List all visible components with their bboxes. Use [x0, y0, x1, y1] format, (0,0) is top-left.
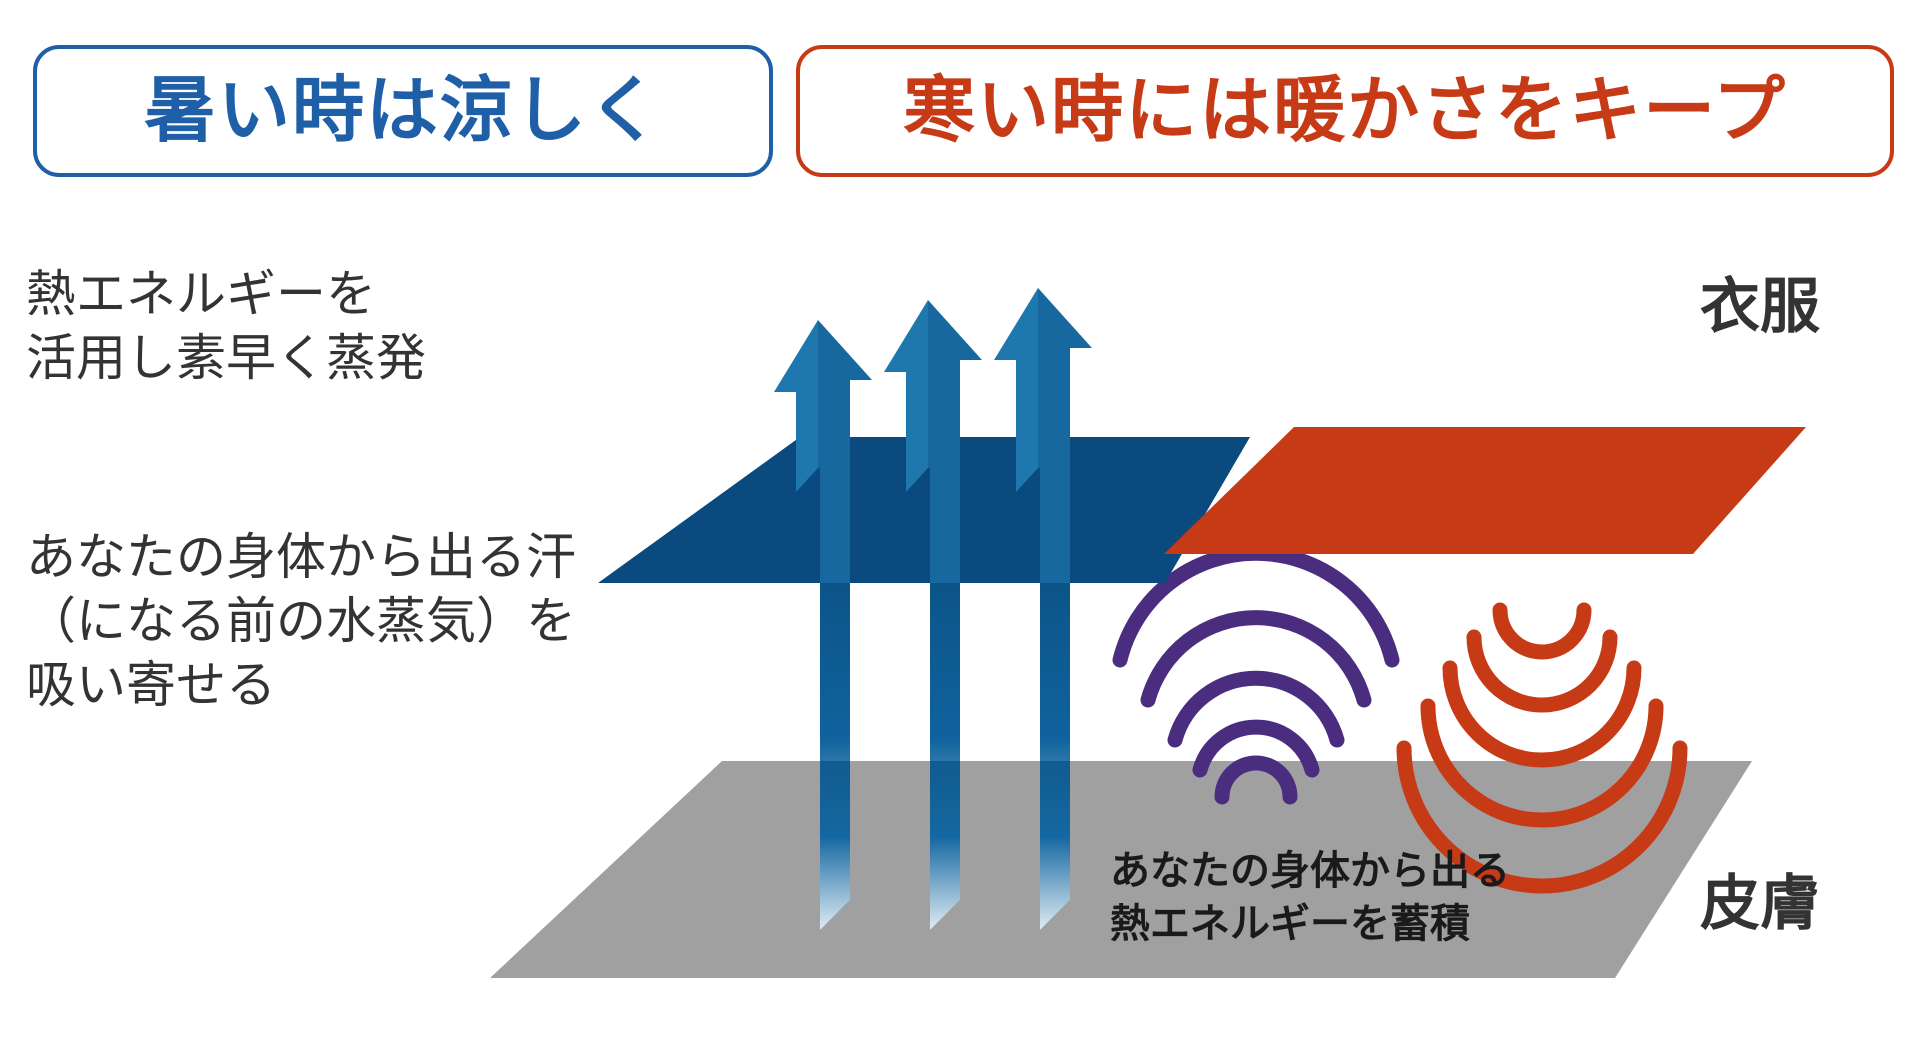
annotation-sweat: あなたの身体から出る汗 （になる前の水蒸気）を 吸い寄せる — [26, 525, 576, 717]
layer-diagram-svg — [0, 0, 1929, 1037]
purple-wave-group — [1120, 553, 1392, 797]
red-wave-arc-3 — [1450, 668, 1634, 760]
red-wave-arc-1 — [1500, 610, 1584, 652]
clothing-warm-layer — [1164, 427, 1806, 554]
purple-wave-arc-2 — [1148, 618, 1364, 700]
label-skin: 皮膚 — [1700, 855, 1820, 942]
diagram-canvas: 暑い時は涼しく 寒い時には暖かさをキープ — [0, 0, 1929, 1037]
annotation-store-heat: あなたの身体から出る 熱エネルギーを蓄積 — [1110, 845, 1510, 951]
label-clothing: 衣服 — [1700, 258, 1820, 345]
annotation-evaporate: 熱エネルギーを 活用し素早く蒸発 — [26, 262, 426, 390]
heat-escape-arrows — [774, 288, 1092, 492]
